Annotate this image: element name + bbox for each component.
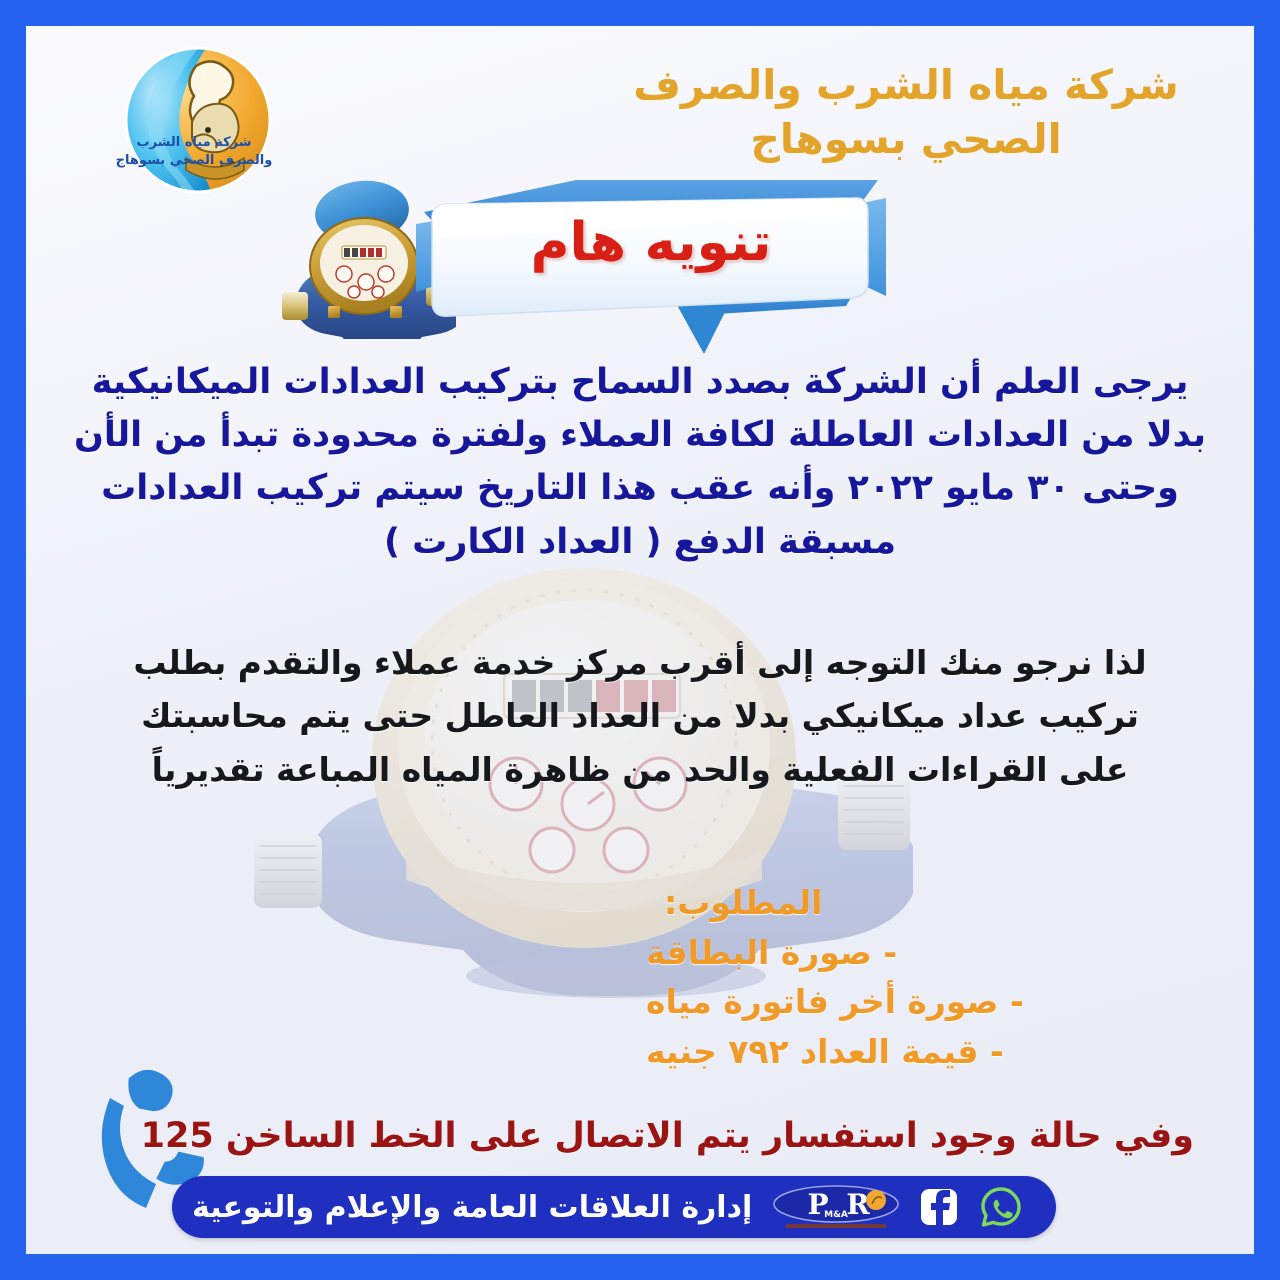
- whatsapp-icon[interactable]: [977, 1183, 1025, 1231]
- requirement-item-2: - صورة أخر فاتورة مياه: [646, 977, 1206, 1027]
- facebook-icon[interactable]: [915, 1183, 963, 1231]
- page-title: شركة مياه الشرب والصرف الصحي بسوهاج: [576, 58, 1236, 166]
- svg-text:والصرف الصحي بسوهاج: والصرف الصحي بسوهاج: [116, 153, 273, 168]
- footer-department-label: إدارة العلاقات العامة والإعلام والتوعية: [192, 1190, 752, 1225]
- requirement-item-1: - صورة البطاقة: [646, 928, 1206, 978]
- notice-paragraph-secondary: لذا نرجو منك التوجه إلى أقرب مركز خدمة ع…: [126, 636, 1154, 796]
- requirements-list: المطلوب: - صورة البطاقة - صورة أخر فاتور…: [646, 878, 1206, 1076]
- svg-text:شركة مياه الشرب: شركة مياه الشرب: [137, 135, 252, 150]
- svg-text:R: R: [847, 1188, 871, 1221]
- banner-label: تنويه هام: [416, 212, 886, 273]
- poster-canvas: شركة مياه الشرب والصرف الصحي بسوهاج شركة…: [26, 26, 1254, 1254]
- pr-logo-icon[interactable]: P R M&A: [772, 1184, 900, 1230]
- svg-text:M&A: M&A: [824, 1210, 848, 1220]
- important-notice-banner: تنويه هام: [416, 176, 886, 361]
- requirements-title: المطلوب:: [646, 878, 1206, 928]
- notice-paragraph-primary: يرجى العلم أن الشركة بصدد السماح بتركيب …: [66, 356, 1214, 569]
- company-logo: شركة مياه الشرب والصرف الصحي بسوهاج: [88, 38, 308, 228]
- footer-bar: إدارة العلاقات العامة والإعلام والتوعية …: [172, 1176, 1056, 1238]
- requirement-item-3: - قيمة العداد ٧٩٢ جنيه: [646, 1027, 1206, 1077]
- hotline-text: وفي حالة وجود استفسار يتم الاتصال على ال…: [234, 1116, 1194, 1156]
